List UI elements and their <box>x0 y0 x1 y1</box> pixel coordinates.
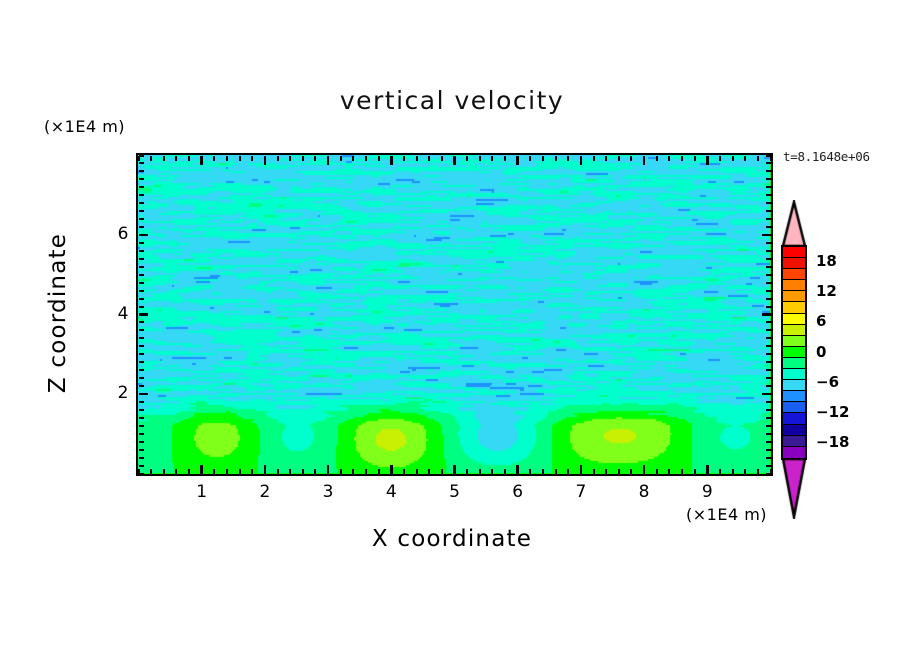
x-minor-tick <box>239 469 241 474</box>
x-minor-tick <box>352 469 354 474</box>
y-major-tick-right <box>762 393 771 396</box>
y-minor-tick <box>139 186 144 188</box>
x-minor-tick-top <box>302 156 304 161</box>
x-minor-tick <box>302 469 304 474</box>
y-minor-tick <box>139 385 144 387</box>
x-major-tick <box>706 465 709 474</box>
x-minor-tick-top <box>630 156 632 161</box>
y-minor-tick <box>139 290 144 292</box>
y-minor-tick <box>139 473 144 475</box>
x-minor-tick <box>656 469 658 474</box>
x-minor-tick <box>757 469 759 474</box>
contour-field-canvas <box>138 155 770 473</box>
y-minor-tick <box>139 178 144 180</box>
x-minor-tick <box>150 469 152 474</box>
x-axis-title: X coordinate <box>0 526 904 552</box>
y-minor-tick-right <box>766 226 771 228</box>
x-minor-tick-top <box>757 156 759 161</box>
y-tick-label: 4 <box>89 304 129 324</box>
colorbar-tick-label: −12 <box>816 403 849 421</box>
x-major-tick <box>643 465 646 474</box>
y-minor-tick-right <box>766 353 771 355</box>
x-minor-tick-top <box>188 156 190 161</box>
x-minor-tick-top <box>251 156 253 161</box>
y-minor-tick <box>139 409 144 411</box>
y-minor-tick-right <box>766 186 771 188</box>
y-minor-tick-right <box>766 385 771 387</box>
x-minor-tick <box>226 469 228 474</box>
colorbar-band <box>783 369 805 380</box>
y-minor-tick <box>139 210 144 212</box>
colorbar-band <box>783 402 805 413</box>
y-minor-tick <box>139 433 144 435</box>
y-tick-label: 6 <box>89 224 129 244</box>
x-tick-label: 6 <box>498 482 538 502</box>
x-minor-tick <box>466 469 468 474</box>
y-minor-tick <box>139 441 144 443</box>
x-minor-tick <box>605 469 607 474</box>
x-minor-tick <box>694 469 696 474</box>
x-minor-tick-top <box>340 156 342 161</box>
y-minor-tick-right <box>766 417 771 419</box>
y-minor-tick-right <box>766 409 771 411</box>
y-minor-tick <box>139 162 144 164</box>
y-minor-tick-right <box>766 194 771 196</box>
colorbar-tick-label: 12 <box>816 282 837 300</box>
x-minor-tick-top <box>416 156 418 161</box>
y-axis-unit-label: (×1E4 m) <box>44 117 125 136</box>
x-minor-tick-top <box>542 156 544 161</box>
x-tick-label: 1 <box>182 482 222 502</box>
y-major-tick <box>139 234 148 237</box>
y-minor-tick-right <box>766 162 771 164</box>
x-minor-tick <box>668 469 670 474</box>
x-minor-tick <box>251 469 253 474</box>
y-minor-tick-right <box>766 290 771 292</box>
x-minor-tick-top <box>555 156 557 161</box>
x-minor-tick-top <box>479 156 481 161</box>
y-minor-tick-right <box>766 266 771 268</box>
x-tick-label: 5 <box>435 482 475 502</box>
colorbar-tick-label: 6 <box>816 312 826 330</box>
colorbar-tick-label: 18 <box>816 252 837 270</box>
x-tick-label: 7 <box>561 482 601 502</box>
y-minor-tick <box>139 170 144 172</box>
x-minor-tick-top <box>365 156 367 161</box>
y-minor-tick <box>139 321 144 323</box>
colorbar-band <box>783 436 805 447</box>
x-minor-tick-top <box>618 156 620 161</box>
x-minor-tick <box>529 469 531 474</box>
x-minor-tick <box>479 469 481 474</box>
x-major-tick-top <box>453 156 456 165</box>
y-minor-tick-right <box>766 306 771 308</box>
x-minor-tick <box>555 469 557 474</box>
y-minor-tick <box>139 329 144 331</box>
x-minor-tick <box>428 469 430 474</box>
x-minor-tick-top <box>605 156 607 161</box>
x-minor-tick-top <box>428 156 430 161</box>
x-major-tick <box>327 465 330 474</box>
x-tick-label: 3 <box>308 482 348 502</box>
x-minor-tick <box>567 469 569 474</box>
x-minor-tick <box>163 469 165 474</box>
x-major-tick <box>516 465 519 474</box>
y-minor-tick-right <box>766 282 771 284</box>
page-title: vertical velocity <box>0 86 904 115</box>
colorbar-band <box>783 291 805 302</box>
y-minor-tick <box>139 258 144 260</box>
x-minor-tick-top <box>239 156 241 161</box>
y-minor-tick-right <box>766 218 771 220</box>
x-minor-tick <box>289 469 291 474</box>
x-minor-tick <box>630 469 632 474</box>
x-major-tick-top <box>706 156 709 165</box>
y-minor-tick <box>139 218 144 220</box>
y-minor-tick <box>139 298 144 300</box>
x-minor-tick <box>504 469 506 474</box>
y-minor-tick-right <box>766 425 771 427</box>
y-axis-title: Z coordinate <box>45 203 71 423</box>
x-minor-tick-top <box>441 156 443 161</box>
x-minor-tick <box>277 469 279 474</box>
x-minor-tick-top <box>593 156 595 161</box>
x-minor-tick-top <box>656 156 658 161</box>
x-minor-tick-top <box>719 156 721 161</box>
colorbar-band <box>783 314 805 325</box>
x-minor-tick-top <box>403 156 405 161</box>
y-minor-tick-right <box>766 441 771 443</box>
x-minor-tick-top <box>163 156 165 161</box>
colorbar-band <box>783 247 805 258</box>
x-minor-tick-top <box>668 156 670 161</box>
y-minor-tick <box>139 369 144 371</box>
y-minor-tick-right <box>766 298 771 300</box>
y-minor-tick-right <box>766 321 771 323</box>
x-minor-tick-top <box>694 156 696 161</box>
y-minor-tick-right <box>766 465 771 467</box>
x-minor-tick-top <box>314 156 316 161</box>
colorbar-band <box>783 280 805 291</box>
y-major-tick <box>139 393 148 396</box>
y-minor-tick <box>139 457 144 459</box>
x-major-tick-top <box>327 156 330 165</box>
x-minor-tick <box>618 469 620 474</box>
x-major-tick <box>200 465 203 474</box>
x-minor-tick-top <box>567 156 569 161</box>
x-minor-tick-top <box>277 156 279 161</box>
y-minor-tick <box>139 465 144 467</box>
x-major-tick-top <box>264 156 267 165</box>
y-minor-tick <box>139 226 144 228</box>
x-minor-tick <box>314 469 316 474</box>
x-axis-unit-label: (×1E4 m) <box>686 505 767 524</box>
x-major-tick-top <box>200 156 203 165</box>
x-minor-tick <box>744 469 746 474</box>
x-minor-tick-top <box>175 156 177 161</box>
x-minor-tick-top <box>289 156 291 161</box>
x-minor-tick-top <box>226 156 228 161</box>
y-minor-tick <box>139 306 144 308</box>
y-minor-tick-right <box>766 202 771 204</box>
x-minor-tick-top <box>504 156 506 161</box>
y-minor-tick-right <box>766 401 771 403</box>
y-minor-tick-right <box>766 337 771 339</box>
y-minor-tick-right <box>766 345 771 347</box>
y-minor-tick <box>139 425 144 427</box>
x-major-tick-top <box>580 156 583 165</box>
x-minor-tick <box>719 469 721 474</box>
x-major-tick-top <box>390 156 393 165</box>
x-minor-tick-top <box>681 156 683 161</box>
colorbar-band <box>783 269 805 280</box>
y-major-tick-right <box>762 234 771 237</box>
x-minor-tick <box>365 469 367 474</box>
y-minor-tick <box>139 353 144 355</box>
x-minor-tick <box>378 469 380 474</box>
x-minor-tick <box>340 469 342 474</box>
x-minor-tick-top <box>378 156 380 161</box>
colorbar-band <box>783 258 805 269</box>
y-minor-tick <box>139 155 144 157</box>
colorbar-band <box>783 425 805 436</box>
x-major-tick-top <box>643 156 646 165</box>
y-minor-tick <box>139 401 144 403</box>
x-major-tick <box>390 465 393 474</box>
x-major-tick <box>264 465 267 474</box>
colorbar-band <box>783 391 805 402</box>
y-minor-tick-right <box>766 210 771 212</box>
colorbar-band <box>783 447 805 458</box>
y-tick-label: 2 <box>89 383 129 403</box>
x-minor-tick <box>491 469 493 474</box>
contour-plot-area[interactable] <box>136 153 773 476</box>
y-major-tick <box>139 313 148 316</box>
x-minor-tick <box>416 469 418 474</box>
y-minor-tick-right <box>766 258 771 260</box>
colorbar-band <box>783 347 805 358</box>
y-minor-tick <box>139 449 144 451</box>
colorbar-band <box>783 358 805 369</box>
colorbar-band <box>783 302 805 313</box>
y-major-tick-right <box>762 313 771 316</box>
y-minor-tick-right <box>766 170 771 172</box>
y-minor-tick-right <box>766 473 771 475</box>
y-minor-tick-right <box>766 433 771 435</box>
x-minor-tick <box>441 469 443 474</box>
y-minor-tick-right <box>766 449 771 451</box>
x-minor-tick <box>681 469 683 474</box>
y-minor-tick <box>139 266 144 268</box>
y-minor-tick <box>139 345 144 347</box>
x-minor-tick-top <box>213 156 215 161</box>
x-minor-tick-top <box>732 156 734 161</box>
x-minor-tick-top <box>744 156 746 161</box>
y-minor-tick-right <box>766 377 771 379</box>
colorbar[interactable] <box>781 245 807 460</box>
x-tick-label: 9 <box>687 482 727 502</box>
y-minor-tick <box>139 250 144 252</box>
y-minor-tick-right <box>766 457 771 459</box>
x-minor-tick <box>188 469 190 474</box>
x-minor-tick <box>403 469 405 474</box>
colorbar-band <box>783 336 805 347</box>
colorbar-tick-label: −18 <box>816 433 849 451</box>
y-minor-tick <box>139 242 144 244</box>
x-minor-tick-top <box>150 156 152 161</box>
x-minor-tick <box>213 469 215 474</box>
x-minor-tick-top <box>466 156 468 161</box>
x-minor-tick <box>175 469 177 474</box>
x-minor-tick <box>542 469 544 474</box>
y-minor-tick <box>139 282 144 284</box>
colorbar-band <box>783 380 805 391</box>
y-minor-tick-right <box>766 178 771 180</box>
x-minor-tick <box>732 469 734 474</box>
x-minor-tick <box>593 469 595 474</box>
y-minor-tick-right <box>766 274 771 276</box>
x-tick-label: 2 <box>245 482 285 502</box>
colorbar-over-arrow <box>781 200 807 246</box>
colorbar-band <box>783 413 805 424</box>
y-minor-tick-right <box>766 369 771 371</box>
x-minor-tick-top <box>491 156 493 161</box>
y-minor-tick <box>139 417 144 419</box>
colorbar-tick-label: −6 <box>816 373 839 391</box>
x-major-tick <box>580 465 583 474</box>
x-major-tick-top <box>516 156 519 165</box>
y-minor-tick <box>139 274 144 276</box>
colorbar-under-arrow <box>781 459 807 519</box>
y-minor-tick <box>139 194 144 196</box>
time-stamp-annotation: t=8.1648e+06 <box>783 149 870 164</box>
colorbar-band <box>783 325 805 336</box>
x-tick-label: 4 <box>371 482 411 502</box>
x-minor-tick-top <box>352 156 354 161</box>
y-minor-tick-right <box>766 250 771 252</box>
y-minor-tick <box>139 361 144 363</box>
y-minor-tick <box>139 337 144 339</box>
y-minor-tick <box>139 377 144 379</box>
y-minor-tick-right <box>766 329 771 331</box>
y-minor-tick-right <box>766 361 771 363</box>
y-minor-tick <box>139 202 144 204</box>
x-tick-label: 8 <box>624 482 664 502</box>
x-major-tick <box>453 465 456 474</box>
y-minor-tick-right <box>766 242 771 244</box>
colorbar-tick-label: 0 <box>816 343 826 361</box>
y-minor-tick-right <box>766 155 771 157</box>
x-minor-tick-top <box>529 156 531 161</box>
